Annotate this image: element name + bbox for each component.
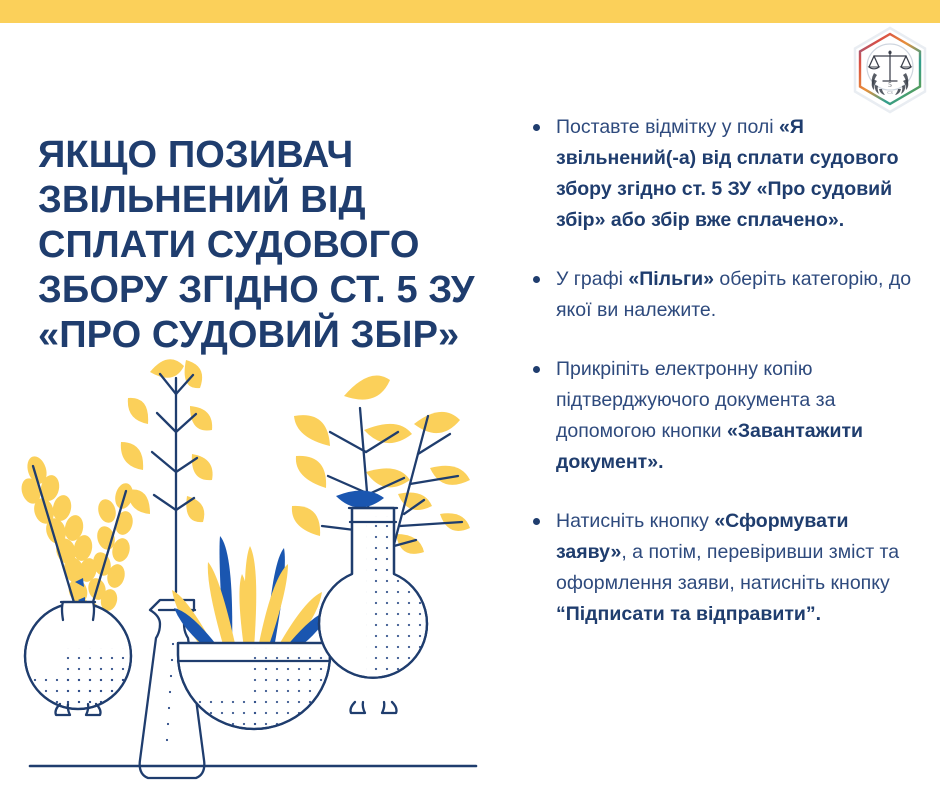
emblem-number: 5 bbox=[888, 81, 892, 89]
step-text: Прикріпіть електронну копію підтверджуюч… bbox=[556, 358, 863, 473]
round-vase bbox=[25, 602, 140, 715]
step-text: Поставте відмітку у полі «Я звільнений(-… bbox=[556, 116, 899, 231]
list-item: Поставте відмітку у полі «Я звільнений(-… bbox=[524, 112, 924, 236]
plants-in-vases-illustration bbox=[0, 348, 500, 788]
bullet-icon bbox=[533, 366, 540, 373]
emblem-subtext: СЗ bbox=[887, 90, 893, 95]
steps-list: Поставте відмітку у полі «Я звільнений(-… bbox=[524, 112, 924, 630]
leafy-branch-tall-vase bbox=[121, 359, 213, 592]
step-text: У графі «Пільги» оберіть категорію, до я… bbox=[556, 268, 911, 321]
bullet-icon bbox=[533, 124, 540, 131]
list-item: У графі «Пільги» оберіть категорію, до я… bbox=[524, 264, 924, 326]
infographic-page: 5 СЗ ЯКЩО ПОЗИВАЧ ЗВІЛЬНЕНИЙ ВІД СПЛАТИ … bbox=[0, 0, 940, 788]
court-emblem: 5 СЗ bbox=[845, 25, 935, 115]
bullet-icon bbox=[533, 276, 540, 283]
top-accent-bar bbox=[0, 0, 940, 23]
step-text: Натисніть кнопку «Сформувати заяву», а п… bbox=[556, 510, 899, 625]
bullet-icon bbox=[533, 518, 540, 525]
list-item: Натисніть кнопку «Сформувати заяву», а п… bbox=[524, 506, 924, 630]
wide-bowl bbox=[178, 643, 340, 733]
blade-leaves-bowl bbox=[172, 536, 330, 652]
list-item: Прикріпіть електронну копію підтверджуюч… bbox=[524, 354, 924, 478]
page-title: ЯКЩО ПОЗИВАЧ ЗВІЛЬНЕНИЙ ВІД СПЛАТИ СУДОВ… bbox=[38, 133, 508, 358]
flask-vase bbox=[319, 508, 436, 713]
